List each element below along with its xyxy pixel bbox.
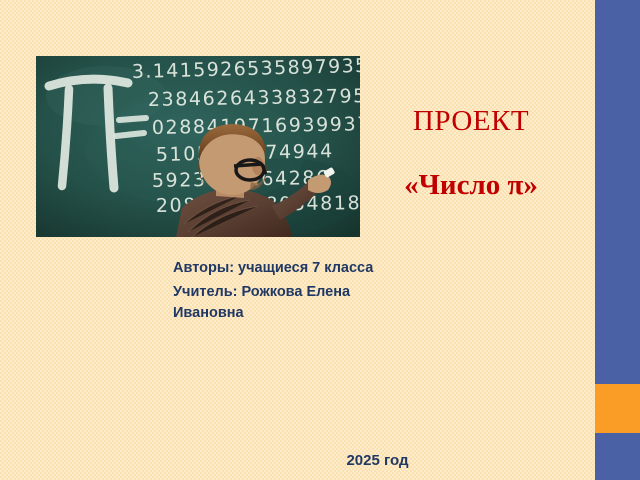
slide-year: 2025 год xyxy=(160,452,595,469)
subtitle-authors: Авторы: учащиеся 7 класса xyxy=(173,258,408,279)
slide-subtitle: Авторы: учащиеся 7 класса Учитель: Рожко… xyxy=(173,258,408,324)
title-line-subject: «Число π» xyxy=(356,167,586,203)
presentation-slide: 3.1415926535897935 2384626433832795 0288… xyxy=(0,0,640,480)
slide-title: ПРОЕКТ «Число π» xyxy=(356,103,586,203)
chalkboard-illustration: 3.1415926535897935 2384626433832795 0288… xyxy=(36,56,360,237)
subtitle-teacher: Учитель: Рожкова Елена Ивановна xyxy=(173,282,408,324)
chalkboard-photo: 3.1415926535897935 2384626433832795 0288… xyxy=(36,56,360,237)
title-line-project: ПРОЕКТ xyxy=(356,103,586,139)
svg-text:2384626433832795: 2384626433832795 xyxy=(148,85,360,111)
right-edge-accent-bar xyxy=(595,384,640,433)
